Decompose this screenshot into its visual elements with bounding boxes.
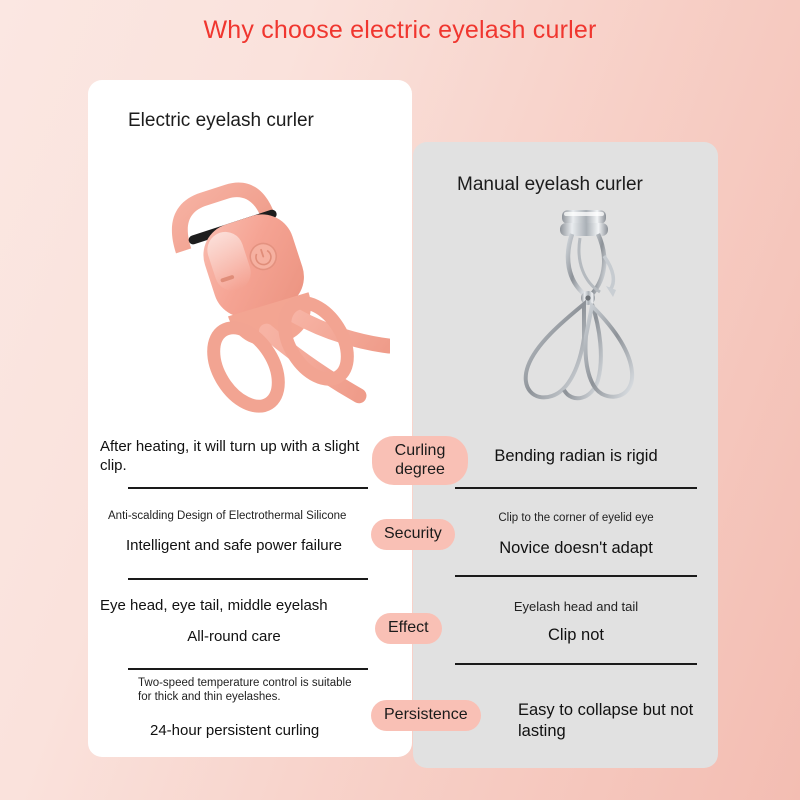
electric-value-main: Intelligent and safe power failure — [100, 537, 368, 556]
electric-value-small: Anti-scalding Design of Electrothermal S… — [108, 509, 358, 523]
row-badge-security: Security — [371, 519, 455, 550]
electric-value-main: After heating, it will turn up with a sl… — [100, 438, 368, 476]
manual-value-small: Clip to the corner of eyelid eye — [440, 511, 712, 525]
electric-value-main: All-round care — [100, 628, 368, 647]
row-badge-curling-degree: Curling degree — [372, 436, 468, 485]
electric-value-small: Two-speed temperature control is suitabl… — [138, 676, 362, 705]
row-divider-left — [128, 487, 368, 489]
manual-value-main: Clip not — [440, 625, 712, 646]
row-divider-right — [455, 663, 697, 665]
infographic-canvas: Why choose electric eyelash curler Elect… — [0, 0, 800, 800]
electric-value-main: 24-hour persistent curling — [150, 722, 380, 741]
row-divider-right — [455, 487, 697, 489]
comparison-table: After heating, it will turn up with a sl… — [0, 0, 800, 800]
row-badge-effect: Effect — [375, 613, 442, 644]
manual-value-small: Eyelash head and tail — [440, 599, 712, 615]
manual-value-main: Novice doesn't adapt — [440, 538, 712, 559]
manual-value-main: Easy to collapse but not lasting — [518, 700, 718, 743]
row-divider-left — [128, 578, 368, 580]
row-divider-left — [128, 668, 368, 670]
row-badge-persistence: Persistence — [371, 700, 481, 731]
manual-value-main: Bending radian is rigid — [440, 446, 712, 467]
row-divider-right — [455, 575, 697, 577]
electric-value-small: Eye head, eye tail, middle eyelash — [100, 597, 360, 616]
